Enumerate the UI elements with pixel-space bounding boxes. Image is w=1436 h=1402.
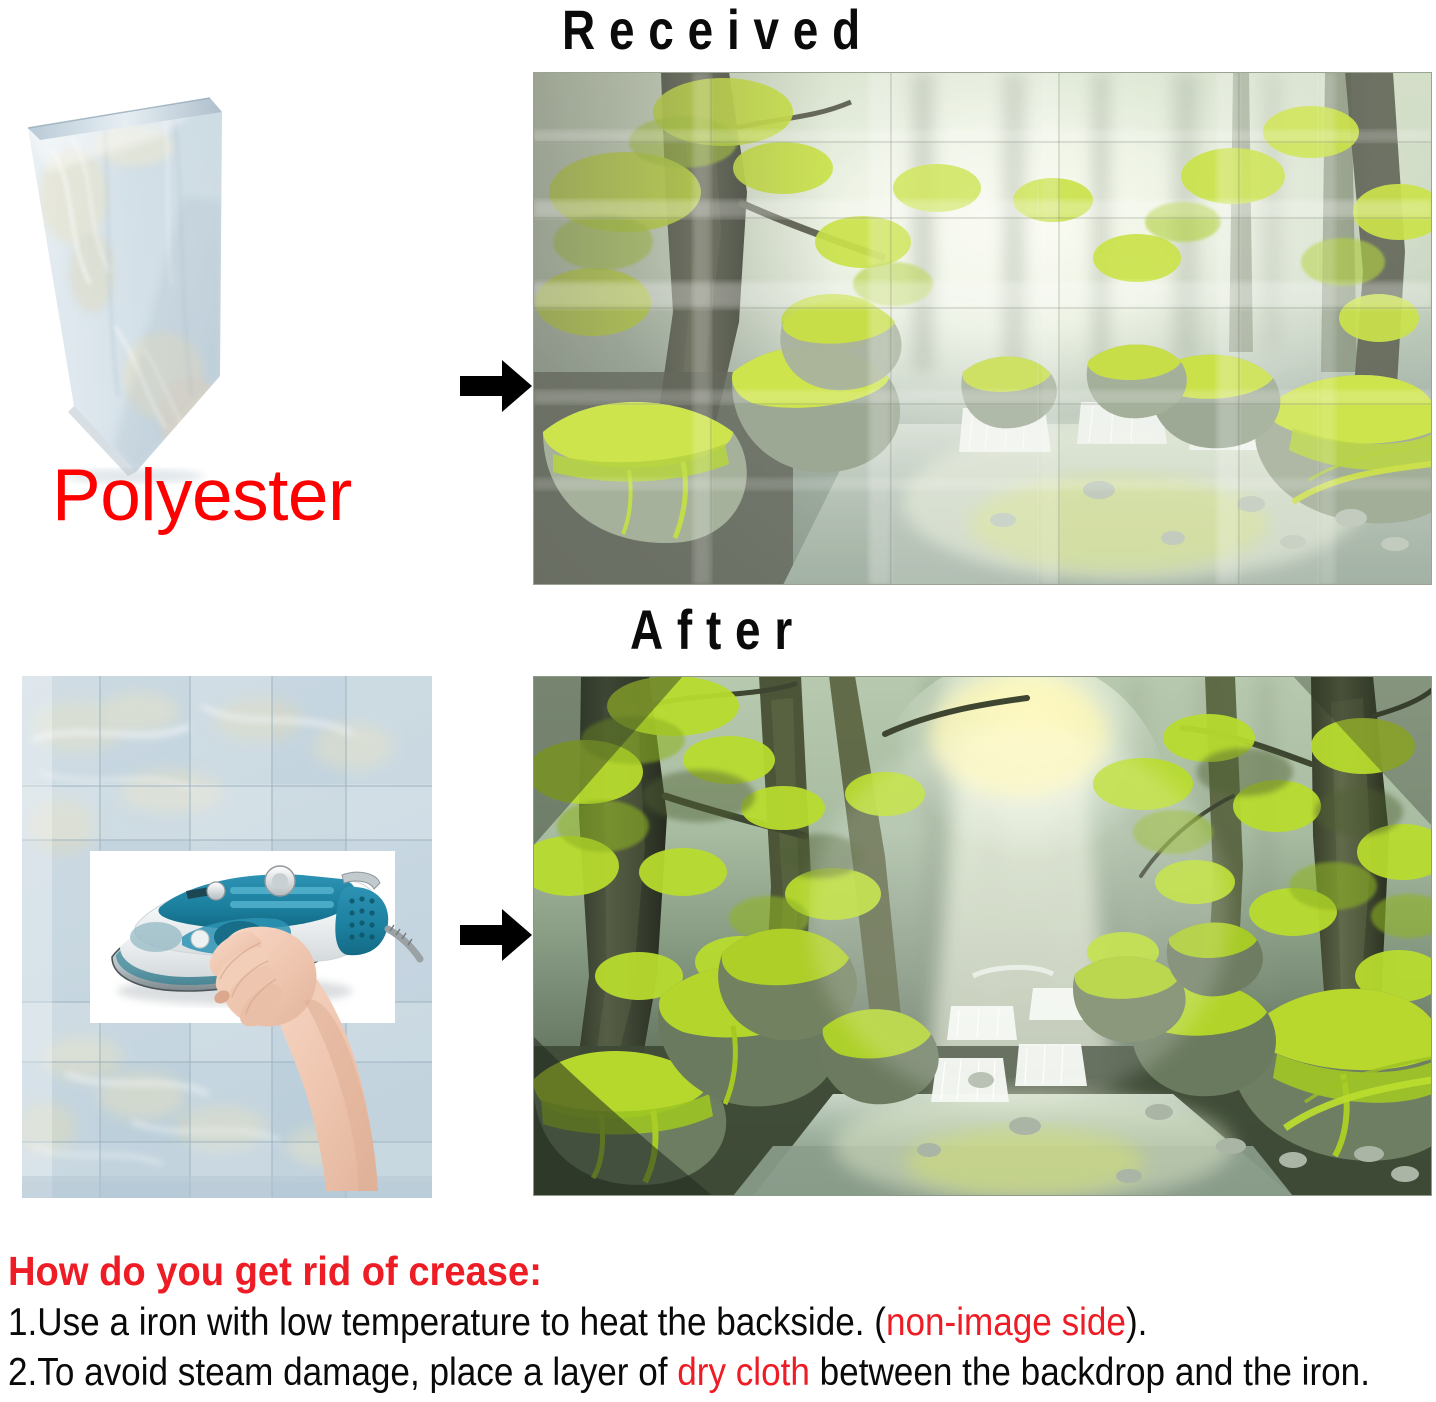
instruction-1-part-1: Use a iron with low temperature to heat …: [37, 1301, 886, 1344]
after-backdrop-photo: [533, 676, 1432, 1196]
instruction-1-number: 1.: [8, 1301, 37, 1344]
instructions-heading: How do you get rid of crease:: [8, 1248, 1336, 1295]
instruction-2-number: 2.: [8, 1351, 37, 1394]
instruction-1-highlight: non-image side: [886, 1301, 1126, 1344]
instruction-2-part-1: To avoid steam damage, place a layer of: [37, 1351, 677, 1394]
crease-overlay: [533, 72, 1432, 585]
instruction-2-highlight: dry cloth: [677, 1351, 810, 1394]
section-title-received: Received: [456, 2, 981, 58]
instruction-item-1: 1.Use a iron with low temperature to hea…: [8, 1301, 1293, 1345]
right-arrow-icon: [458, 356, 534, 416]
infographic-page: Received: [0, 0, 1436, 1402]
polyester-label: Polyester: [52, 459, 352, 532]
steam-iron-and-hand-illustration: [90, 851, 395, 1191]
forest-scene-creased: [533, 72, 1432, 585]
right-arrow-icon: [458, 905, 534, 965]
forest-scene-smooth: [533, 676, 1432, 1196]
received-backdrop-photo: [533, 72, 1432, 585]
section-title-after: After: [480, 602, 956, 658]
instruction-1-part-3: ).: [1126, 1301, 1147, 1344]
instruction-2-part-3: between the backdrop and the iron.: [810, 1351, 1370, 1394]
instructions-block: How do you get rid of crease: 1.Use a ir…: [8, 1248, 1436, 1394]
instruction-item-2: 2.To avoid steam damage, place a layer o…: [8, 1351, 1293, 1395]
steam-iron-photo: [90, 851, 395, 1023]
folded-fabric-photo: [14, 76, 444, 496]
folded-fabric-illustration: [14, 76, 444, 496]
